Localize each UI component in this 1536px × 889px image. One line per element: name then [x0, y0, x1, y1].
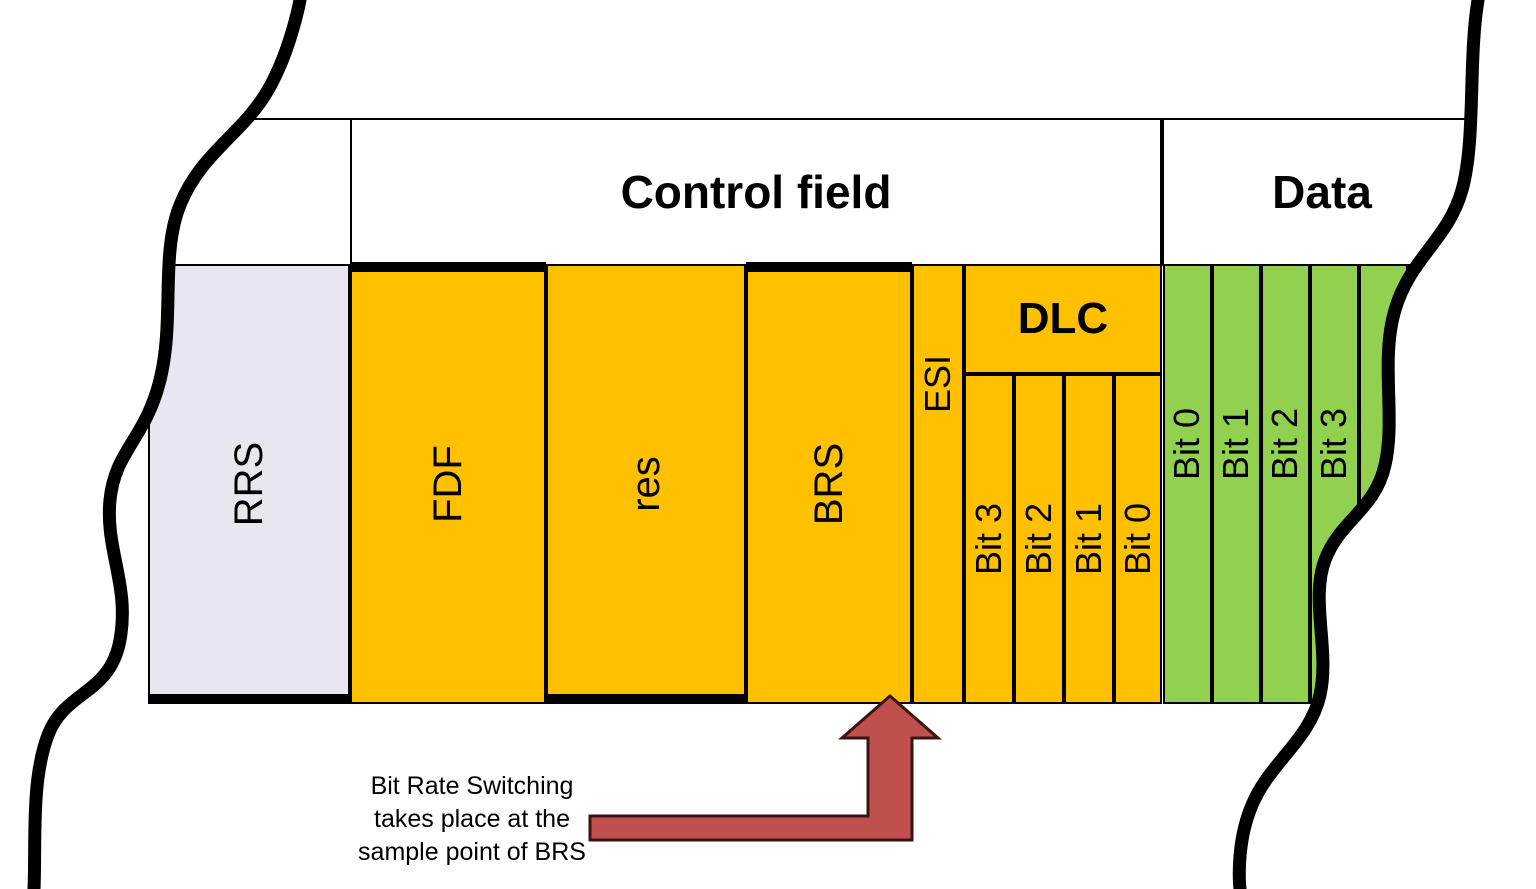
annotation-line-3: sample point of BRS: [352, 836, 592, 869]
annotation-line-2: takes place at the: [352, 803, 592, 836]
field-rrs: RRS: [148, 264, 350, 704]
field-dlc: DLC: [964, 264, 1162, 374]
data-bit-5: [1408, 264, 1448, 704]
dlc-bit-2-label: Bit 2: [1021, 503, 1057, 575]
field-res: res: [546, 264, 746, 704]
dlc-bit-1-label: Bit 1: [1071, 503, 1107, 575]
field-fdf: FDF: [350, 264, 546, 704]
field-res-label: res: [626, 456, 666, 512]
sample-point-bar-res-bottom: [548, 694, 744, 704]
field-esi-label: ESI: [920, 355, 956, 413]
data-bit-3: Bit 3: [1310, 264, 1359, 704]
header-control-field-label: Control field: [621, 165, 892, 219]
dlc-bit-3-label: Bit 3: [971, 503, 1007, 575]
sample-point-bar-rrs-bottom: [150, 694, 348, 704]
header-control-field: Control field: [350, 118, 1162, 266]
annotation-caption: Bit Rate Switching takes place at the sa…: [352, 770, 592, 869]
field-dlc-label: DLC: [1018, 294, 1108, 344]
field-fdf-label: FDF: [428, 445, 468, 523]
data-bit-3-label: Bit 3: [1317, 408, 1353, 480]
field-brs: BRS: [746, 264, 912, 704]
data-bit-2-label: Bit 2: [1268, 408, 1304, 480]
data-bit-0: Bit 0: [1163, 264, 1212, 704]
header-data: Data: [1162, 118, 1482, 266]
bit-rate-switching-arrow-icon: [580, 690, 960, 850]
field-brs-label: BRS: [809, 443, 849, 525]
annotation-line-1: Bit Rate Switching: [352, 770, 592, 803]
dlc-bit-0: Bit 0: [1114, 374, 1162, 704]
data-bit-2: Bit 2: [1261, 264, 1310, 704]
data-bit-1-label: Bit 1: [1219, 408, 1255, 480]
data-bit-1: Bit 1: [1212, 264, 1261, 704]
can-fd-frame-diagram: Control field Data RRS FDF res BRS ESI D…: [0, 0, 1536, 889]
header-data-label: Data: [1272, 165, 1372, 219]
header-top-rule-left: [148, 118, 352, 120]
dlc-bit-2: Bit 2: [1014, 374, 1064, 704]
sample-point-bar-fdf-top: [350, 262, 546, 272]
dlc-bit-0-label: Bit 0: [1120, 503, 1156, 575]
data-bit-4: [1359, 264, 1408, 704]
data-bit-0-label: Bit 0: [1170, 408, 1206, 480]
dlc-bit-1: Bit 1: [1064, 374, 1114, 704]
field-esi: ESI: [912, 264, 964, 704]
dlc-bit-3: Bit 3: [964, 374, 1014, 704]
field-rrs-label: RRS: [229, 442, 269, 526]
sample-point-bar-brs-top: [746, 262, 912, 272]
